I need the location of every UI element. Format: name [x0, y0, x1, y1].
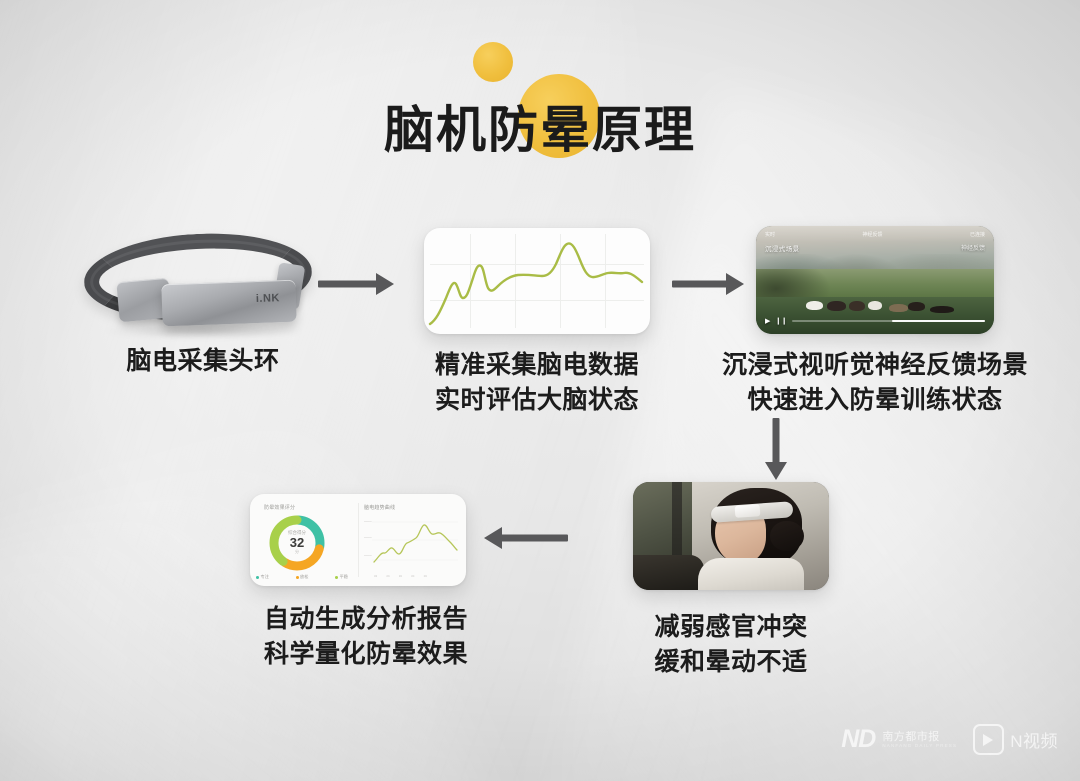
eeg-waveform-line	[424, 228, 650, 334]
arrow-head	[726, 273, 744, 295]
trend-y-tick-low: ───	[364, 554, 372, 558]
pause-icon[interactable]: ❙❙	[775, 317, 787, 325]
step3-caption: 沉浸式视听觉神经反馈场景 快速进入防晕训练状态	[700, 348, 1050, 417]
status-bar-left: 实时	[765, 231, 775, 238]
scene-animal-cow-1	[827, 301, 846, 312]
legend-item-2: 平稳	[335, 574, 348, 580]
arrow-step1-to-step2	[318, 272, 394, 296]
video-status-bar: 实时 神经反馈 已连接	[756, 226, 994, 242]
background-sheen-bottom	[0, 408, 540, 781]
legend-label-2: 平稳	[340, 574, 348, 580]
watermark-nvideo-logo: N视频	[973, 724, 1058, 755]
report-trend-line-chart	[362, 516, 458, 568]
step1-caption: 脑电采集头环	[78, 344, 328, 379]
watermark-nd-cn: 南方都市报	[882, 731, 957, 743]
title-block: 脑机防晕原理	[0, 0, 1080, 185]
donut-legend: 专注 放松 平稳	[256, 574, 348, 580]
video-badge-label: 神经反馈	[961, 243, 985, 252]
arrow-step4-to-step5	[484, 526, 568, 550]
legend-swatch-icon	[335, 576, 338, 579]
step4-caption-line1: 减弱感官冲突	[615, 610, 847, 645]
dashboard-left-panel-title: 防晕效果评分	[264, 504, 295, 511]
step4-caption-line2: 缓和晕动不适	[615, 645, 847, 680]
trend-x-ticks: ▭▭▭▭▭	[374, 574, 436, 578]
video-progress-slider[interactable]	[792, 320, 985, 322]
play-pause-icon[interactable]: ▶	[765, 317, 770, 325]
donut-center-unit: 分	[288, 550, 306, 554]
watermark-nd-logo: ND 南方都市报 NANFANG DAILY PRESS	[841, 727, 957, 752]
infographic-canvas: 脑机防晕原理 i.NK 脑电采集头环 精准采集脑电数据 实时评	[0, 0, 1080, 781]
legend-item-0: 专注	[256, 574, 269, 580]
step2-caption-line1: 精准采集脑电数据	[410, 348, 664, 383]
watermark-nd-text: 南方都市报 NANFANG DAILY PRESS	[882, 731, 957, 749]
step3-immersive-scene-card: 实时 神经反馈 已连接 沉浸式场景 神经反馈 ▶ ❙❙	[756, 226, 994, 334]
donut-center-readout: 综合得分 32 分	[288, 531, 306, 555]
arrow-shaft	[672, 281, 728, 288]
scene-animal-sheep-1	[806, 301, 823, 311]
watermark-nd-en: NANFANG DAILY PRESS	[882, 744, 957, 749]
scene-animal-cow-5	[930, 306, 954, 314]
dashboard-divider	[358, 503, 359, 577]
video-player-controls[interactable]: ▶ ❙❙	[765, 317, 985, 325]
watermark: ND 南方都市报 NANFANG DAILY PRESS N视频	[841, 724, 1058, 755]
status-bar-right: 已连接	[970, 231, 985, 238]
report-donut-chart: 综合得分 32 分	[266, 512, 328, 574]
arrow-shaft	[500, 535, 568, 542]
step1-caption-line1: 脑电采集头环	[78, 344, 328, 379]
person-hair-bun	[770, 521, 803, 551]
step3-caption-line1: 沉浸式视听觉神经反馈场景	[700, 348, 1050, 383]
step5-caption-line1: 自动生成分析报告	[232, 602, 500, 637]
person-torso	[698, 558, 804, 590]
trend-y-tick-high: ───	[364, 520, 372, 524]
step5-report-dashboard-card: 防晕效果评分 脑电趋势曲线 综合得分 32 分 专注 放松	[250, 494, 466, 586]
step4-person-photo-card	[633, 482, 829, 590]
scene-animal-cow-3	[889, 304, 908, 313]
page-title: 脑机防晕原理	[0, 90, 1080, 162]
arrow-shaft	[318, 281, 378, 288]
arrow-head	[484, 527, 502, 549]
legend-swatch-icon	[256, 576, 259, 579]
play-button-icon	[973, 724, 1004, 755]
car-seat	[633, 555, 704, 590]
legend-swatch-icon	[296, 576, 299, 579]
step5-caption: 自动生成分析报告 科学量化防晕效果	[232, 602, 500, 671]
arrow-head	[376, 273, 394, 295]
person-headband-module	[735, 504, 761, 518]
step3-caption-line2: 快速进入防晕训练状态	[700, 383, 1050, 418]
headband-sensor-module: i.NK	[161, 280, 296, 327]
arrow-step2-to-step3	[672, 272, 744, 296]
step2-caption: 精准采集脑电数据 实时评估大脑状态	[410, 348, 664, 417]
scene-animal-cow-4	[908, 302, 925, 312]
arrow-step3-to-step4	[764, 418, 788, 480]
arrow-head	[765, 462, 787, 480]
step2-caption-line2: 实时评估大脑状态	[410, 383, 664, 418]
legend-item-1: 放松	[296, 574, 309, 580]
legend-label-1: 放松	[300, 574, 308, 580]
status-bar-center: 神经反馈	[862, 231, 882, 238]
step2-eeg-chart-card	[424, 228, 650, 334]
legend-label-0: 专注	[261, 574, 269, 580]
dashboard-right-panel-title: 脑电趋势曲线	[364, 504, 395, 511]
nd-mark-icon: ND	[841, 727, 875, 752]
step1-headband-visual: i.NK	[78, 228, 328, 340]
step4-caption: 减弱感官冲突 缓和晕动不适	[615, 610, 847, 679]
step5-caption-line2: 科学量化防晕效果	[232, 637, 500, 672]
arrow-shaft	[773, 418, 780, 466]
scene-animal-cow-2	[849, 301, 866, 312]
trend-y-tick-mid: ───	[364, 536, 372, 540]
watermark-nvideo-label: N视频	[1010, 727, 1058, 752]
decorative-dot-small	[473, 42, 513, 82]
headband-drop-shadow	[104, 324, 304, 338]
scene-animal-sheep-2	[868, 301, 882, 311]
video-title-label: 沉浸式场景	[765, 243, 800, 253]
headband-brand-logo: i.NK	[256, 292, 280, 305]
